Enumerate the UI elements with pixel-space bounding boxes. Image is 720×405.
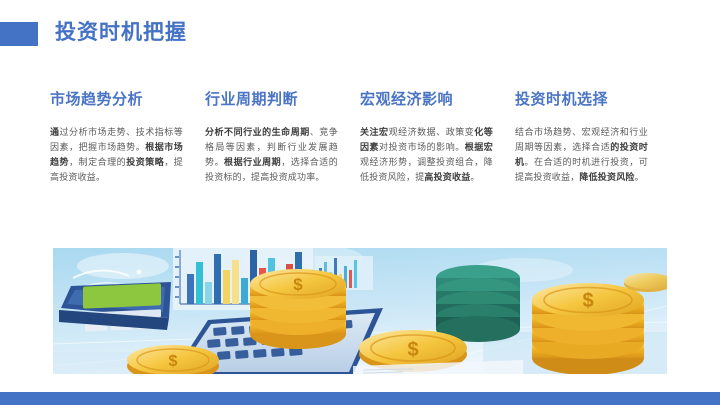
column-body: 结合市场趋势、宏观经济和行业周期等因素，选择合适的投资时机。在合适的时机进行投资… bbox=[515, 125, 648, 185]
column-market-trend: 市场趋势分析 通过分析市场走势、技术指标等因素，把握市场趋势。根据市场趋势，制定… bbox=[50, 88, 183, 233]
footer-accent-bar bbox=[0, 392, 720, 405]
body-strong: 根据行业周期 bbox=[224, 157, 281, 167]
column-macro-economy: 宏观经济影响 关注宏观经济数据、政策变化等因素对投资市场的影响。根据宏观经济形势… bbox=[360, 88, 493, 233]
column-heading: 行业周期判断 bbox=[205, 88, 338, 109]
title-accent-bar bbox=[0, 22, 38, 46]
column-heading: 投资时机选择 bbox=[515, 88, 648, 109]
svg-text:$: $ bbox=[169, 353, 178, 370]
slide-root: 投资时机把握 市场趋势分析 通过分析市场走势、技术指标等因素，把握市场趋势。根据… bbox=[0, 0, 720, 405]
body-strong: 关注宏 bbox=[360, 127, 389, 137]
content-columns: 市场趋势分析 通过分析市场走势、技术指标等因素，把握市场趋势。根据市场趋势，制定… bbox=[50, 88, 670, 233]
column-body: 分析不同行业的生命周期、竞争格局等因素，判断行业发展趋势。根据行业周期，选择合适… bbox=[205, 125, 338, 185]
body-strong: 分析不同行业的生命周期 bbox=[205, 127, 310, 137]
body-text: 。 bbox=[635, 172, 644, 182]
column-investment-timing: 投资时机选择 结合市场趋势、宏观经济和行业周期等因素，选择合适的投资时机。在合适… bbox=[515, 88, 648, 233]
body-strong: 通 bbox=[50, 127, 60, 137]
body-text: 观经济数据、政策变 bbox=[389, 127, 475, 137]
column-industry-cycle: 行业周期判断 分析不同行业的生命周期、竞争格局等因素，判断行业发展趋势。根据行业… bbox=[205, 88, 338, 233]
svg-text:$: $ bbox=[582, 290, 593, 312]
body-text: ，制定合理的 bbox=[69, 157, 126, 167]
page-title: 投资时机把握 bbox=[55, 17, 187, 49]
body-strong: 根据宏 bbox=[465, 142, 493, 152]
body-text: 。 bbox=[470, 172, 479, 182]
body-strong: 投资策略 bbox=[126, 157, 164, 167]
body-strong: 高投资收益 bbox=[424, 172, 470, 182]
column-heading: 市场趋势分析 bbox=[50, 88, 183, 109]
financial-illustration: $ $ $ bbox=[53, 248, 667, 374]
svg-text:$: $ bbox=[407, 339, 418, 361]
column-heading: 宏观经济影响 bbox=[360, 88, 493, 109]
body-strong: 降低投资风险 bbox=[579, 172, 634, 182]
svg-text:$: $ bbox=[293, 275, 303, 294]
body-text: 对投资市场的影响。 bbox=[379, 142, 465, 152]
column-body: 关注宏观经济数据、政策变化等因素对投资市场的影响。根据宏观经济形势，调整投资组合… bbox=[360, 125, 493, 185]
column-body: 通过分析市场走势、技术指标等因素，把握市场趋势。根据市场趋势，制定合理的投资策略… bbox=[50, 125, 183, 185]
